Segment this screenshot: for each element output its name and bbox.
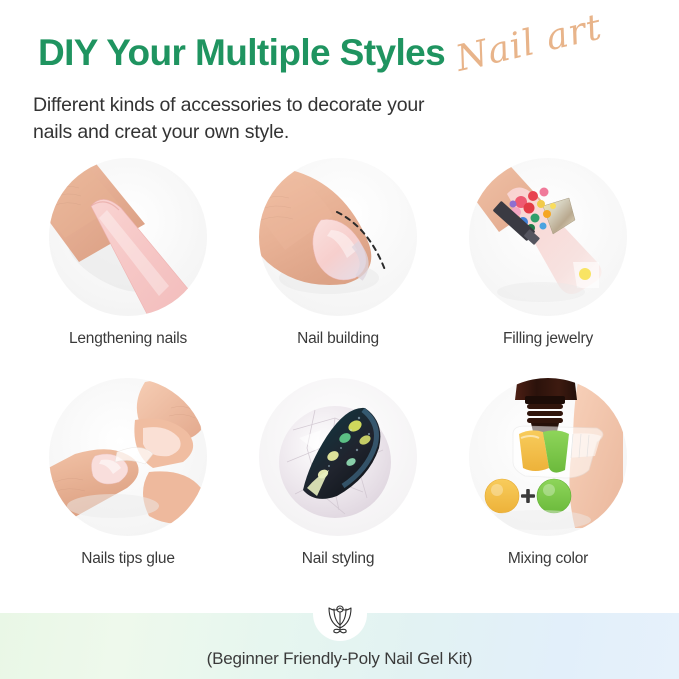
feature-cell-nails-tips-glue[interactable]: Nails tips glue (40, 378, 216, 568)
photo-nail-styling (259, 378, 417, 536)
footer-bar: (Beginner Friendly-Poly Nail Gel Kit) (0, 613, 679, 679)
page-title: DIY Your Multiple Styles (38, 34, 445, 71)
footer-caption: (Beginner Friendly-Poly Nail Gel Kit) (0, 649, 679, 669)
feature-cell-mixing-color[interactable]: Mixing color (460, 378, 636, 568)
feature-caption: Nails tips glue (40, 550, 216, 568)
photo-lengthening-nails (49, 158, 207, 316)
feature-caption: Nail styling (250, 550, 426, 568)
photo-nails-tips-glue (49, 378, 207, 536)
feature-row: Nails tips glue (0, 378, 679, 598)
feature-cell-filling-jewelry[interactable]: Filling jewelry (460, 158, 636, 348)
feature-cell-nail-building[interactable]: Nail building (250, 158, 426, 348)
photo-filling-jewelry (469, 158, 627, 316)
feature-cell-lengthening-nails[interactable]: Lengthening nails (40, 158, 216, 348)
feature-caption: Mixing color (460, 550, 636, 568)
feature-caption: Filling jewelry (460, 330, 636, 348)
feature-grid: Lengthening nails (0, 158, 679, 598)
gel-bottle-yellow-green-mix-icon (469, 378, 627, 536)
nail-with-rhinestones-and-brush-icon (469, 158, 627, 316)
script-accent-text: Nail art (452, 7, 606, 80)
photo-nail-building (259, 158, 417, 316)
long-pink-coffin-nail-on-finger-icon (49, 158, 207, 316)
iridescent-nail-on-crystal-icon (259, 378, 417, 536)
hand-applying-clear-nail-tip-icon (49, 378, 207, 536)
tulip-flower-icon (324, 601, 356, 635)
fingertip-with-dashed-guide-curve-icon (259, 158, 417, 316)
feature-cell-nail-styling[interactable]: Nail styling (250, 378, 426, 568)
header-banner: DIY Your Multiple Styles Nail art Differ… (0, 0, 679, 150)
page-subtitle: Different kinds of accessories to decora… (33, 92, 463, 146)
feature-caption: Nail building (250, 330, 426, 348)
photo-mixing-color (469, 378, 627, 536)
feature-caption: Lengthening nails (40, 330, 216, 348)
feature-row: Lengthening nails (0, 158, 679, 378)
